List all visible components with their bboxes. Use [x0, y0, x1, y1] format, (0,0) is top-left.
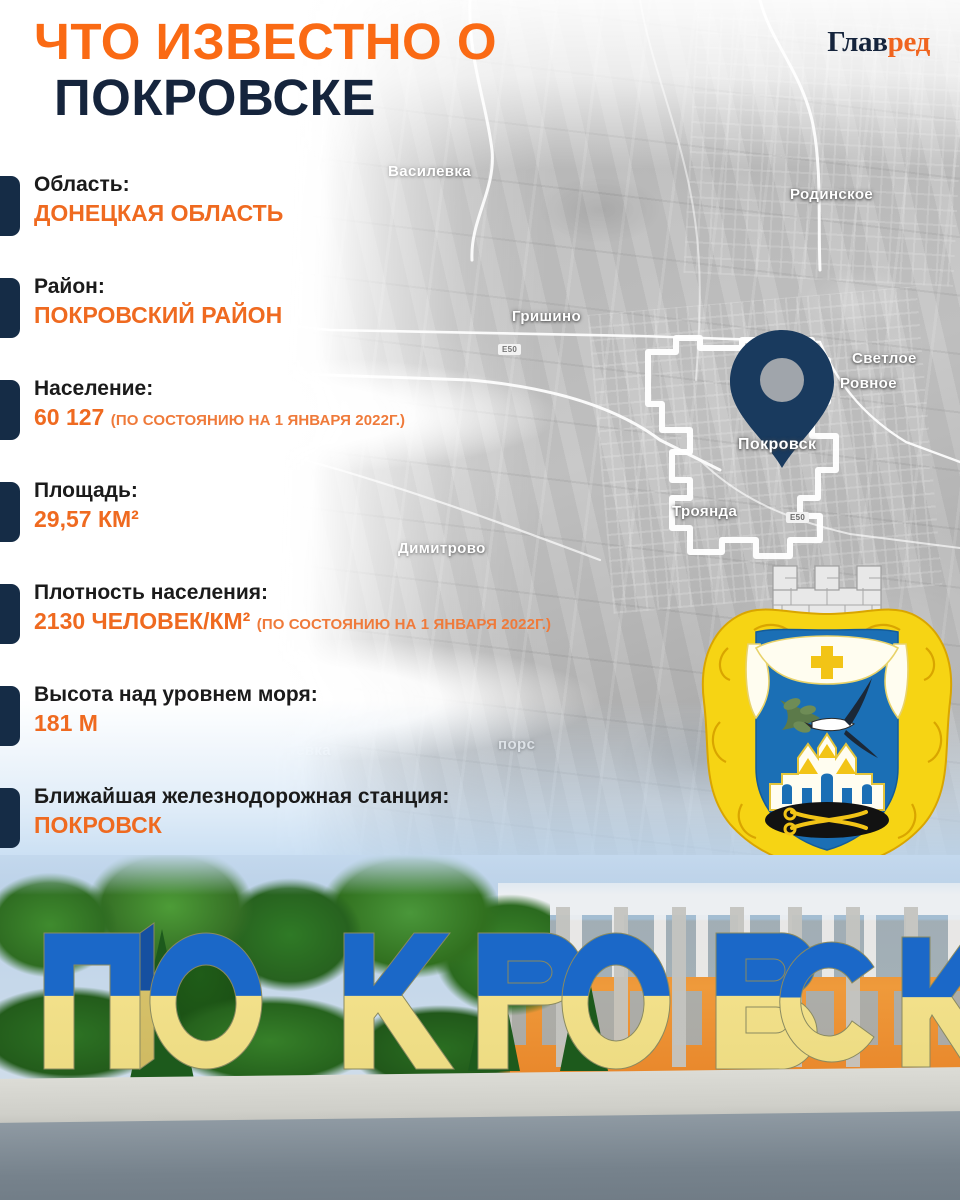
fact-value: 29,57 КМ² — [34, 505, 760, 533]
fact-label: Плотность населения: — [34, 580, 760, 606]
bullet-marker — [0, 380, 20, 440]
fact-note: (ПО СОСТОЯНИЮ НА 1 ЯНВАРЯ 2022Г.) — [111, 412, 405, 429]
fact-value-text: 60 127 — [34, 404, 104, 430]
fact-row-area: Площадь: 29,57 КМ² — [0, 478, 760, 562]
fact-label: Площадь: — [34, 478, 760, 504]
facts-list: Область: ДОНЕЦКАЯ ОБЛАСТЬ Район: ПОКРОВС… — [0, 172, 760, 886]
fact-value: ПОКРОВСК — [34, 811, 760, 839]
photo-top-fade — [0, 855, 960, 895]
city-monument-photo — [0, 855, 960, 1200]
fact-label: Область: — [34, 172, 760, 198]
crossed-sabers-icon — [765, 802, 889, 838]
photo-monument-base — [0, 1111, 960, 1200]
fact-value: 181 М — [34, 709, 760, 737]
logo-text-accent: ред — [888, 26, 930, 58]
fact-value-text: 2130 ЧЕЛОВЕК/КМ² — [34, 608, 250, 634]
bullet-marker — [0, 788, 20, 848]
fact-value-text: 181 М — [34, 710, 98, 736]
page-title: ЧТО ИЗВЕСТНО О ПОКРОВСКЕ — [34, 16, 497, 124]
fact-row-population: Население: 60 127 (ПО СОСТОЯНИЮ НА 1 ЯНВ… — [0, 376, 760, 460]
bullet-marker — [0, 278, 20, 338]
title-line-2: ПОКРОВСКЕ — [54, 72, 497, 124]
bullet-marker — [0, 686, 20, 746]
brand-logo[interactable]: Главред — [827, 26, 930, 59]
coat-of-arms-pokrovsk — [694, 552, 960, 872]
fact-label: Ближайшая железнодорожная станция: — [34, 784, 760, 810]
bullet-marker — [0, 482, 20, 542]
fact-row-region: Область: ДОНЕЦКАЯ ОБЛАСТЬ — [0, 172, 760, 256]
fact-note: (ПО СОСТОЯНИЮ НА 1 ЯНВАРЯ 2022Г.) — [257, 616, 551, 633]
fact-row-district: Район: ПОКРОВСКИЙ РАЙОН — [0, 274, 760, 358]
fact-value-text: ПОКРОВСКИЙ РАЙОН — [34, 302, 282, 328]
fact-row-elevation: Высота над уровнем моря: 181 М — [0, 682, 760, 766]
bullet-marker — [0, 176, 20, 236]
logo-text-primary: Глав — [827, 26, 887, 58]
infographic-poster: Василевка Родинское Гришино Светлое Ровн… — [0, 0, 960, 1200]
fact-value-text: ДОНЕЦКАЯ ОБЛАСТЬ — [34, 200, 283, 226]
fact-value: ПОКРОВСКИЙ РАЙОН — [34, 301, 760, 329]
fact-label: Район: — [34, 274, 760, 300]
fact-value-text: 29,57 КМ² — [34, 506, 139, 532]
fact-value: 2130 ЧЕЛОВЕК/КМ² (ПО СОСТОЯНИЮ НА 1 ЯНВА… — [34, 607, 760, 635]
fact-label: Население: — [34, 376, 760, 402]
fact-value: ДОНЕЦКАЯ ОБЛАСТЬ — [34, 199, 760, 227]
bullet-marker — [0, 584, 20, 644]
fact-row-density: Плотность населения: 2130 ЧЕЛОВЕК/КМ² (П… — [0, 580, 760, 664]
fact-label: Высота над уровнем моря: — [34, 682, 760, 708]
fact-value-text: ПОКРОВСК — [34, 812, 162, 838]
title-line-1: ЧТО ИЗВЕСТНО О — [34, 16, 497, 68]
fact-value: 60 127 (ПО СОСТОЯНИЮ НА 1 ЯНВАРЯ 2022Г.) — [34, 403, 760, 431]
